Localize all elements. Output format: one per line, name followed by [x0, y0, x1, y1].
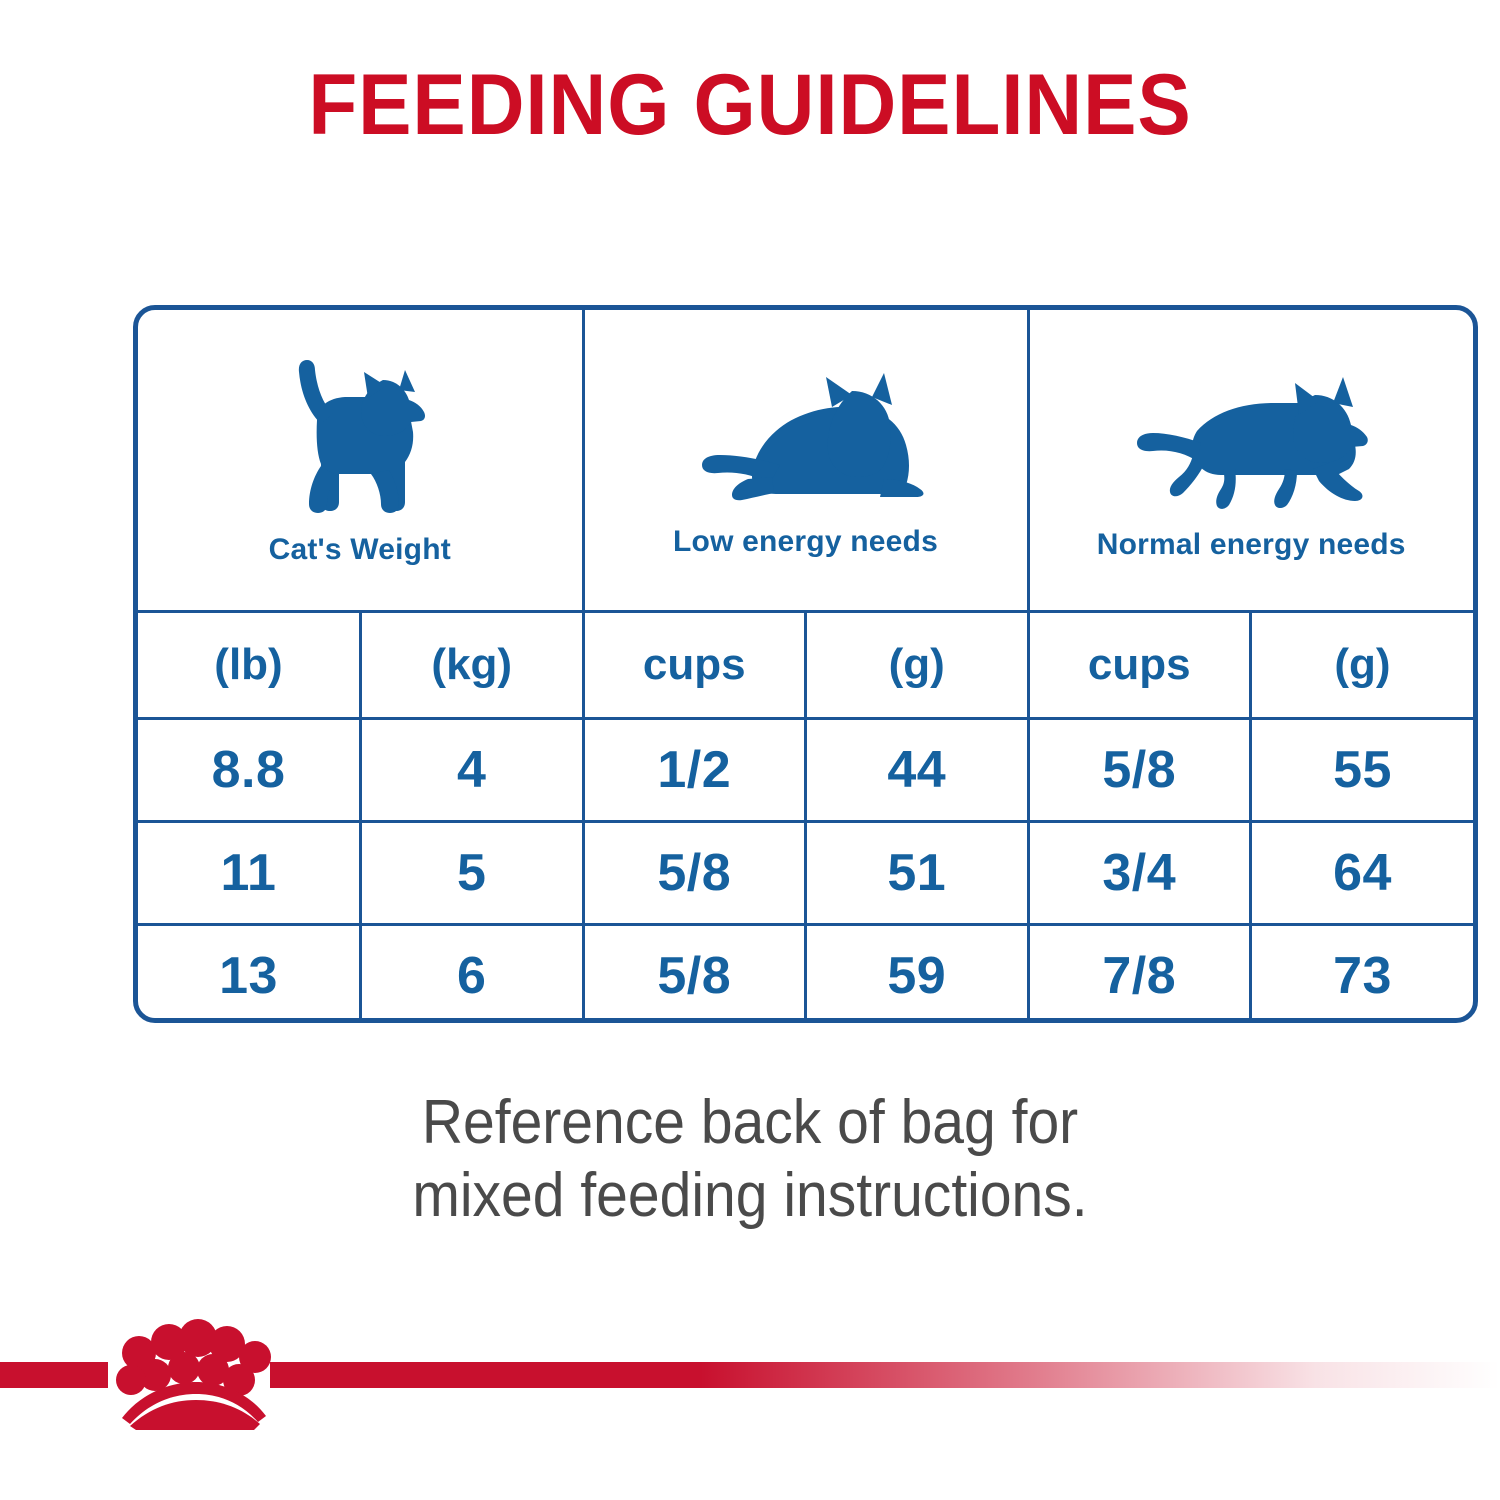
- cell-weight-lb: 8.8: [138, 719, 361, 822]
- header-label-cats-weight: Cat's Weight: [269, 533, 451, 567]
- cell-normal-g: 73: [1251, 925, 1474, 1024]
- value-normal-g: 55: [1333, 741, 1392, 799]
- unit-label-normal-g: (g): [1334, 640, 1390, 689]
- cell-normal-cups: 3/4: [1028, 822, 1251, 925]
- table-header-icon-row: Cat's Weight: [138, 310, 1473, 612]
- feeding-guidelines-table: Cat's Weight: [133, 305, 1478, 1023]
- value-low-cups: 5/8: [657, 844, 731, 902]
- table-row: 11 5 5/8 51 3/4 64: [138, 822, 1473, 925]
- value-normal-cups: 5/8: [1102, 741, 1176, 799]
- value-normal-cups: 3/4: [1102, 844, 1176, 902]
- unit-label-kg: (kg): [431, 640, 512, 689]
- value-weight-kg: 5: [457, 844, 486, 902]
- unit-label-normal-cups: cups: [1088, 640, 1191, 689]
- value-low-g: 44: [887, 741, 946, 799]
- unit-cell-low-g: (g): [806, 612, 1029, 719]
- table-row: 13 6 5/8 59 7/8 73: [138, 925, 1473, 1024]
- cell-low-cups: 5/8: [583, 925, 806, 1024]
- value-weight-lb: 8.8: [212, 741, 286, 799]
- cell-low-g: 59: [806, 925, 1029, 1024]
- cell-low-g: 44: [806, 719, 1029, 822]
- value-weight-kg: 4: [457, 741, 486, 799]
- cell-normal-g: 55: [1251, 719, 1474, 822]
- unit-cell-normal-cups: cups: [1028, 612, 1251, 719]
- royal-canin-crown-logo: [108, 1318, 276, 1430]
- cell-weight-lb: 11: [138, 822, 361, 925]
- value-normal-cups: 7/8: [1102, 947, 1176, 1005]
- value-weight-lb: 13: [219, 947, 278, 1005]
- cell-normal-cups: 7/8: [1028, 925, 1251, 1024]
- header-label-low-energy: Low energy needs: [673, 525, 938, 559]
- table-unit-row: (lb) (kg) cups (g) cups (g): [138, 612, 1473, 719]
- value-normal-g: 64: [1333, 844, 1392, 902]
- table-row: 8.8 4 1/2 44 5/8 55: [138, 719, 1473, 822]
- unit-label-low-g: (g): [889, 640, 945, 689]
- cell-weight-kg: 6: [361, 925, 584, 1024]
- unit-label-low-cups: cups: [643, 640, 746, 689]
- value-low-g: 51: [887, 844, 946, 902]
- cell-normal-g: 64: [1251, 822, 1474, 925]
- cell-low-cups: 1/2: [583, 719, 806, 822]
- header-cell-cats-weight: Cat's Weight: [138, 310, 583, 612]
- value-low-g: 59: [887, 947, 946, 1005]
- header-label-normal-energy: Normal energy needs: [1097, 528, 1406, 562]
- value-low-cups: 5/8: [657, 947, 731, 1005]
- unit-cell-lb: (lb): [138, 612, 361, 719]
- reference-note: Reference back of bag for mixed feeding …: [60, 1086, 1440, 1232]
- cell-weight-kg: 5: [361, 822, 584, 925]
- value-weight-kg: 6: [457, 947, 486, 1005]
- unit-label-lb: (lb): [214, 640, 282, 689]
- header-cell-low-energy: Low energy needs: [583, 310, 1028, 612]
- unit-cell-kg: (kg): [361, 612, 584, 719]
- reference-note-line-1: Reference back of bag for: [60, 1086, 1440, 1159]
- cell-weight-lb: 13: [138, 925, 361, 1024]
- value-normal-g: 73: [1333, 947, 1392, 1005]
- cat-lying-icon: [656, 361, 956, 521]
- cat-standing-icon: [265, 354, 455, 529]
- unit-cell-low-cups: cups: [583, 612, 806, 719]
- cell-low-cups: 5/8: [583, 822, 806, 925]
- brand-rule-left: [0, 1362, 108, 1388]
- cell-normal-cups: 5/8: [1028, 719, 1251, 822]
- cell-low-g: 51: [806, 822, 1029, 925]
- brand-rule-right: [270, 1362, 1500, 1388]
- cell-weight-kg: 4: [361, 719, 584, 822]
- header-cell-normal-energy: Normal energy needs: [1028, 310, 1473, 612]
- value-weight-lb: 11: [221, 844, 277, 902]
- page-title: FEEDING GUIDELINES: [53, 62, 1448, 148]
- cat-walking-icon: [1101, 359, 1401, 524]
- reference-note-line-2: mixed feeding instructions.: [60, 1159, 1440, 1232]
- unit-cell-normal-g: (g): [1251, 612, 1474, 719]
- value-low-cups: 1/2: [657, 741, 731, 799]
